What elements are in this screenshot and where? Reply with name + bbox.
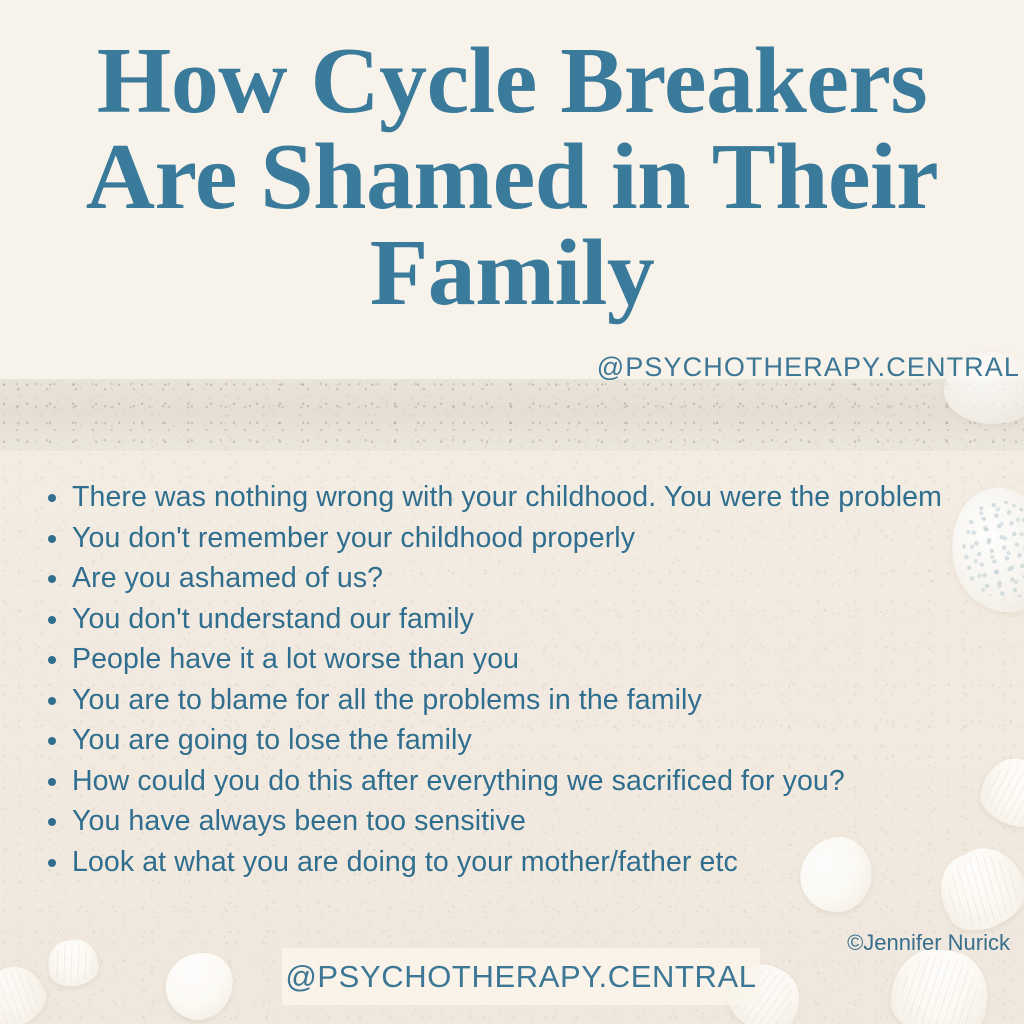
- list-item: You have always been too sensitive: [40, 801, 990, 842]
- bullet-dot-icon: [48, 616, 56, 624]
- list-item-label: Look at what you are doing to your mothe…: [72, 846, 738, 878]
- bullet-dot-icon: [48, 535, 56, 543]
- list-item-label: You are going to lose the family: [72, 724, 472, 756]
- brand-handle-footer: @PSYCHOTHERAPY.CENTRAL: [282, 948, 760, 1005]
- page-title: How Cycle Breakers Are Shamed in Their F…: [0, 34, 1024, 322]
- shaming-phrases-list: There was nothing wrong with your childh…: [40, 477, 990, 882]
- copyright-notice: ©Jennifer Nurick: [847, 930, 1010, 956]
- list-item: Look at what you are doing to your mothe…: [40, 842, 990, 883]
- list-item: How could you do this after everything w…: [40, 761, 990, 802]
- brand-handle-top: @PSYCHOTHERAPY.CENTRAL: [597, 352, 1020, 383]
- list-item: There was nothing wrong with your childh…: [40, 477, 990, 518]
- bullet-dot-icon: [48, 737, 56, 745]
- list-item: Are you ashamed of us?: [40, 558, 990, 599]
- list-item-label: You don't remember your childhood proper…: [72, 522, 635, 554]
- list-item: You don't understand our family: [40, 599, 990, 640]
- list-item-label: You are to blame for all the problems in…: [72, 684, 702, 716]
- list-item-label: You have always been too sensitive: [72, 805, 526, 837]
- list-item: You are to blame for all the problems in…: [40, 680, 990, 721]
- bullet-dot-icon: [48, 656, 56, 664]
- social-post-poster: How Cycle Breakers Are Shamed in Their F…: [0, 0, 1024, 1024]
- title-block: How Cycle Breakers Are Shamed in Their F…: [0, 34, 1024, 322]
- bullet-dot-icon: [48, 859, 56, 867]
- bullet-dot-icon: [48, 494, 56, 502]
- list-item-label: How could you do this after everything w…: [72, 765, 845, 797]
- bullet-dot-icon: [48, 778, 56, 786]
- list-item-label: People have it a lot worse than you: [72, 643, 519, 675]
- list-item: You don't remember your childhood proper…: [40, 518, 990, 559]
- bullet-dot-icon: [48, 818, 56, 826]
- list-item: People have it a lot worse than you: [40, 639, 990, 680]
- list-item-label: You don't understand our family: [72, 603, 474, 635]
- bullet-dot-icon: [48, 575, 56, 583]
- list-item-label: Are you ashamed of us?: [72, 562, 383, 594]
- bullet-dot-icon: [48, 697, 56, 705]
- list-item-label: There was nothing wrong with your childh…: [72, 481, 942, 513]
- list-item: You are going to lose the family: [40, 720, 990, 761]
- sand-band-grain-texture: [0, 379, 1024, 451]
